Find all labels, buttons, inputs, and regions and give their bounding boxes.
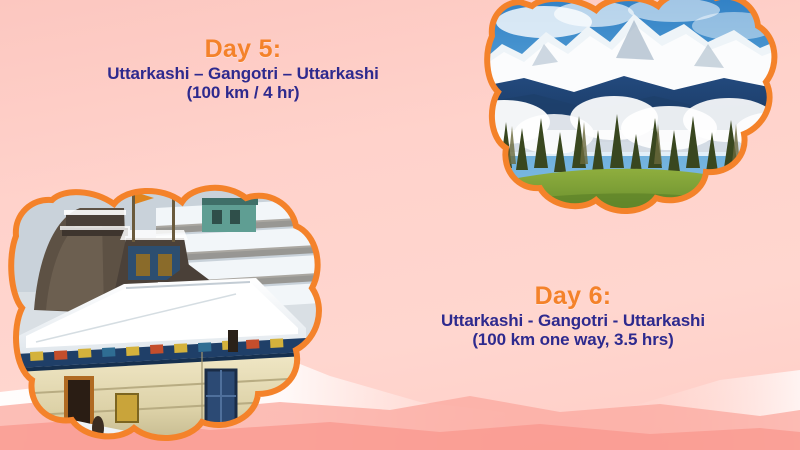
day6-text-block: Day 6: Uttarkashi - Gangotri - Uttarkash… bbox=[368, 283, 778, 350]
day6-heading: Day 6: bbox=[368, 283, 778, 310]
day6-detail-line: (100 km one way, 3.5 hrs) bbox=[368, 331, 778, 349]
day5-text-block: Day 5: Uttarkashi – Gangotri – Uttarkash… bbox=[18, 36, 468, 103]
day5-heading: Day 5: bbox=[18, 36, 468, 63]
day6-route-line: Uttarkashi - Gangotri - Uttarkashi bbox=[368, 312, 778, 330]
temple-photo bbox=[6, 182, 336, 444]
temple-photo-frame bbox=[6, 182, 336, 444]
day5-detail-line: (100 km / 4 hr) bbox=[18, 84, 468, 102]
mountain-photo-frame bbox=[484, 0, 784, 232]
slide-canvas: Day 5: Uttarkashi – Gangotri – Uttarkash… bbox=[0, 0, 800, 450]
day5-route-line: Uttarkashi – Gangotri – Uttarkashi bbox=[18, 65, 468, 83]
mountain-photo bbox=[484, 0, 784, 232]
